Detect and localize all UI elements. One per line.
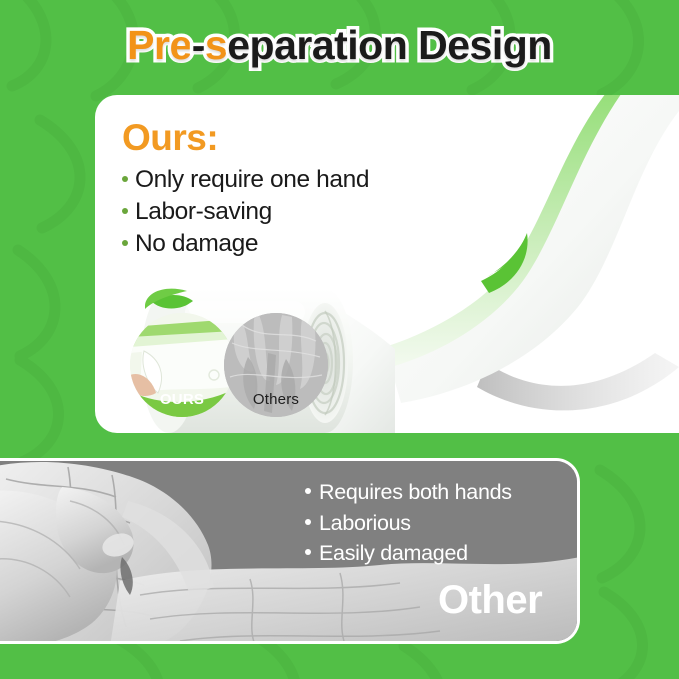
bullet-dot-icon: [305, 488, 311, 494]
other-text-block: Requires both hands Laborious Easily dam…: [305, 478, 575, 570]
title-part-4: eparation Design: [227, 22, 552, 68]
page-title: Pre-separation Design: [0, 14, 679, 76]
ours-bullet-label: No damage: [135, 228, 258, 259]
other-bullet-label: Laborious: [319, 509, 411, 538]
other-bullet-label: Easily damaged: [319, 539, 468, 568]
thumbnail-ours-label: OURS: [130, 391, 234, 408]
other-bullet-item: Easily damaged: [305, 539, 575, 568]
ours-bullet-item: No damage: [122, 228, 452, 259]
title-part-1: Pre: [127, 22, 192, 68]
bullet-dot-icon: [122, 240, 128, 246]
bullet-dot-icon: [305, 519, 311, 525]
ours-bullet-item: Only require one hand: [122, 164, 452, 195]
bullet-dot-icon: [122, 176, 128, 182]
title-part-2: -: [192, 22, 205, 68]
ours-bullet-item: Labor-saving: [122, 196, 452, 227]
thumbnail-others: Others: [224, 313, 328, 417]
other-heading: Other: [438, 578, 542, 623]
comparison-thumbnails: OURS: [130, 313, 310, 417]
thumbnail-others-label: Others: [224, 391, 328, 408]
thumbnail-ours: OURS: [130, 313, 234, 417]
title-part-3: s: [205, 22, 227, 68]
other-bullet-label: Requires both hands: [319, 478, 512, 507]
page-title-text: Pre-separation Design: [127, 22, 552, 69]
ours-bullet-label: Labor-saving: [135, 196, 272, 227]
ours-bullet-label: Only require one hand: [135, 164, 369, 195]
bullet-dot-icon: [305, 549, 311, 555]
ours-heading: Ours:: [122, 117, 452, 160]
bullet-dot-icon: [122, 208, 128, 214]
infographic-page: Pre-separation Design: [0, 0, 679, 679]
other-bullet-item: Laborious: [305, 509, 575, 538]
other-bullet-item: Requires both hands: [305, 478, 575, 507]
ours-text-block: Ours: Only require one hand Labor-saving…: [122, 117, 452, 261]
